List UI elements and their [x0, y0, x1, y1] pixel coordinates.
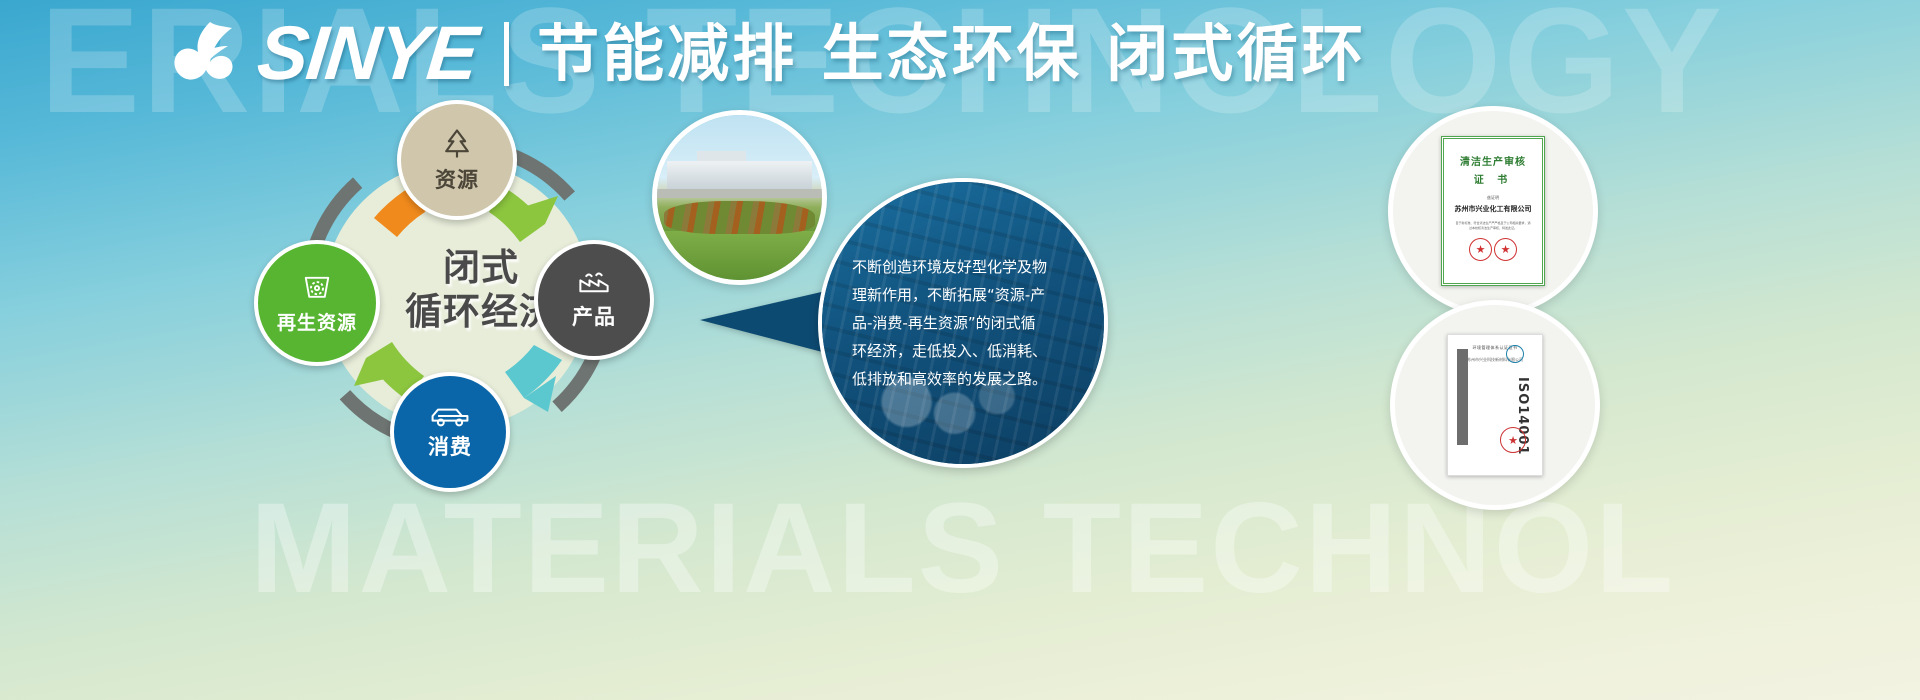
- banner-header: SINYE 节能减排 生态环保 闭式循环: [170, 16, 1366, 92]
- red-seal-icon: ★: [1469, 238, 1492, 261]
- red-seal-icon: ★: [1500, 427, 1526, 453]
- tree-icon: [437, 126, 477, 162]
- iso-logo-icon: [1506, 345, 1524, 363]
- certificate-spine: [1457, 349, 1468, 445]
- mission-bubble: 不断创造环境友好型化学及物 理新作用，不断拓展“资源-产 品-消费-再生资源”的…: [700, 178, 1100, 508]
- certificate-subtitle: 兹证明: [1487, 195, 1499, 201]
- node-label: 消费: [428, 431, 472, 461]
- bubble-line: 品-消费-再生资源”的闭式循: [852, 309, 1074, 337]
- bubble-line: 理新作用，不断拓展“资源-产: [852, 281, 1074, 309]
- closed-loop-diagram: 闭式 循环经济 资源: [262, 100, 652, 490]
- diagram-node-recycle[interactable]: 再生资源: [254, 240, 380, 366]
- factory-icon: [574, 269, 614, 299]
- bubble-text: 不断创造环境友好型化学及物 理新作用，不断拓展“资源-产 品-消费-再生资源”的…: [822, 182, 1104, 464]
- certificate-clean-production: 清洁生产审核 证 书 兹证明 苏州市兴业化工有限公司 自于新标准、符合清洁生产严…: [1388, 106, 1598, 316]
- red-seal-icon: ★: [1494, 238, 1517, 261]
- certificate-body: 自于新标准、符合清洁生产严严格且于公司相关要求，通过本校核清洁生产审核，特发此证…: [1455, 221, 1531, 231]
- certificate-title-line2: 证 书: [1474, 171, 1512, 186]
- banner-root: ERIALS TECHNOLOGY MATERIALS TECHNOL SINY…: [0, 0, 1920, 700]
- splash-leaf-icon: [170, 16, 240, 92]
- node-label: 产品: [572, 301, 616, 331]
- diagram-node-product[interactable]: 产品: [534, 240, 654, 360]
- bubble-tail: [700, 290, 830, 354]
- diagram-node-consume[interactable]: 消费: [390, 372, 510, 492]
- recycle-gear-icon: [298, 272, 336, 306]
- certificate-stamps: ★ ★: [1469, 238, 1517, 261]
- certificate-company: 苏州市兴业化工有限公司: [1455, 204, 1532, 214]
- bubble-body: 不断创造环境友好型化学及物 理新作用，不断拓展“资源-产 品-消费-再生资源”的…: [818, 178, 1108, 468]
- certificate-title-line1: 清洁生产审核: [1460, 153, 1526, 168]
- car-icon: [428, 403, 472, 429]
- bubble-line: 低排放和高效率的发展之路。: [852, 365, 1074, 393]
- certificate-paper: 环境管理体系认证证书 苏州市兴业科技新材料有限公司 ISO14001 ★: [1447, 334, 1543, 476]
- diagram-node-resource[interactable]: 资源: [397, 100, 517, 220]
- bubble-line: 环经济，走低投入、低消耗、: [852, 337, 1074, 365]
- certificate-iso14001: 环境管理体系认证证书 苏州市兴业科技新材料有限公司 ISO14001 ★: [1390, 300, 1600, 510]
- header-slogan: 节能减排 生态环保 闭式循环: [537, 19, 1366, 89]
- certificate-paper: 清洁生产审核 证 书 兹证明 苏州市兴业化工有限公司 自于新标准、符合清洁生产严…: [1441, 136, 1545, 286]
- node-label: 再生资源: [277, 308, 357, 335]
- header-divider: [504, 22, 509, 86]
- brand-wordmark: SINYE: [254, 16, 480, 92]
- node-label: 资源: [435, 164, 479, 194]
- bubble-line: 不断创造环境友好型化学及物: [852, 253, 1074, 281]
